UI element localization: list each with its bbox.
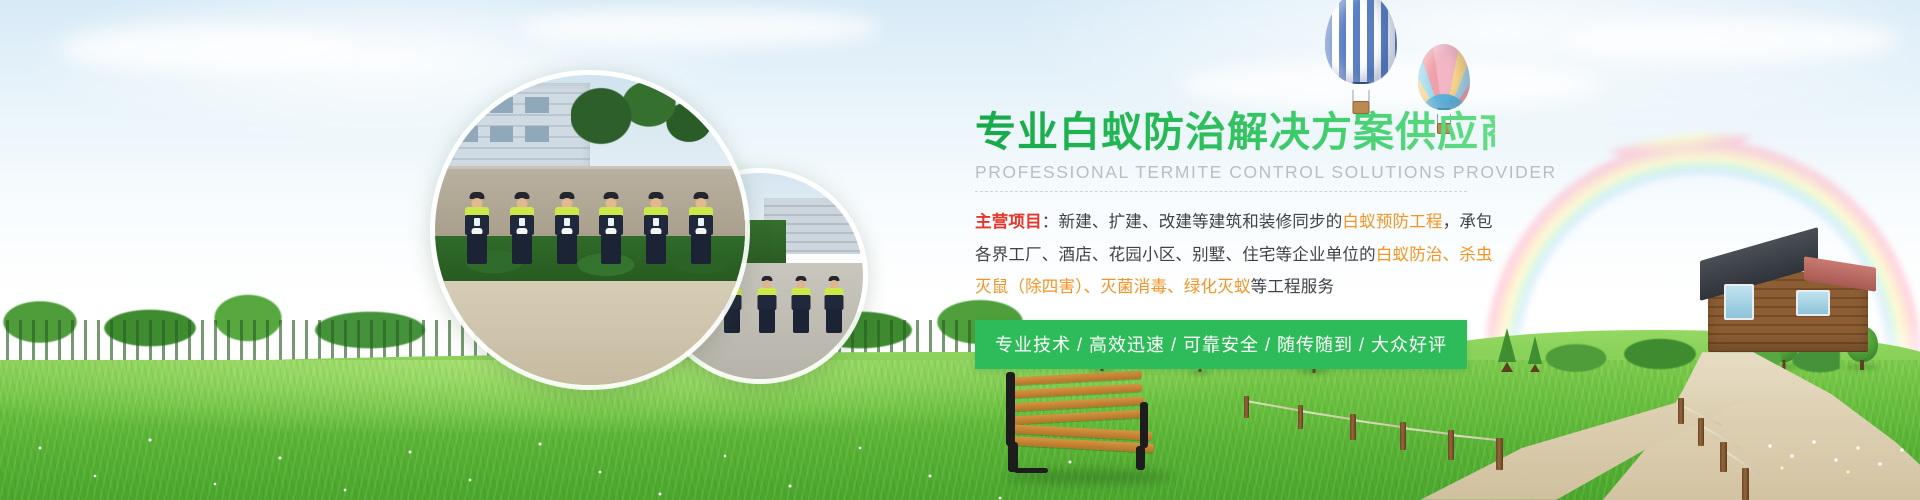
photo-team-lineup: [430, 70, 750, 390]
conifer-tree: [1498, 328, 1516, 372]
park-bench: [1000, 372, 1160, 482]
hero-banner: 专业白蚁防治解决方案供应商 PROFESSIONAL TERMITE CONTR…: [0, 0, 1920, 500]
description-line-3: 灭鼠（除四害）、灭菌消毒、绿化灭蚁等工程服务: [975, 278, 1334, 296]
hot-air-balloon-multicolor-icon: [1418, 44, 1470, 110]
banner-headline: 专业白蚁防治解决方案供应商: [975, 110, 1495, 156]
cloud: [1560, 18, 1900, 62]
banner-subheadline: PROFESSIONAL TERMITE CONTROL SOLUTIONS P…: [975, 162, 1495, 183]
banner-text-block: 专业白蚁防治解决方案供应商 PROFESSIONAL TERMITE CONTR…: [975, 110, 1495, 369]
log-cabin-house: [1700, 238, 1875, 353]
photo-collage: [420, 60, 960, 460]
description-line-2: 各界工厂、酒店、花园小区、别墅、住宅等企业单位的白蚁防治、杀虫: [975, 246, 1493, 264]
cloud: [520, 8, 880, 48]
banner-description: 主营项目：新建、扩建、改建等建筑和装修同步的白蚁预防工程，承包 各界工厂、酒店、…: [975, 206, 1495, 304]
text-divider: [975, 191, 1467, 192]
hot-air-balloon-blue-white-striped-icon: [1325, 0, 1397, 84]
daisy-patch: [1752, 430, 1920, 480]
banner-tagline: 专业技术 / 高效迅速 / 可靠安全 / 随传随到 / 大众好评: [975, 320, 1467, 369]
cloud: [60, 26, 360, 72]
description-line-1: 主营项目：新建、扩建、改建等建筑和装修同步的白蚁预防工程，承包: [975, 213, 1493, 231]
